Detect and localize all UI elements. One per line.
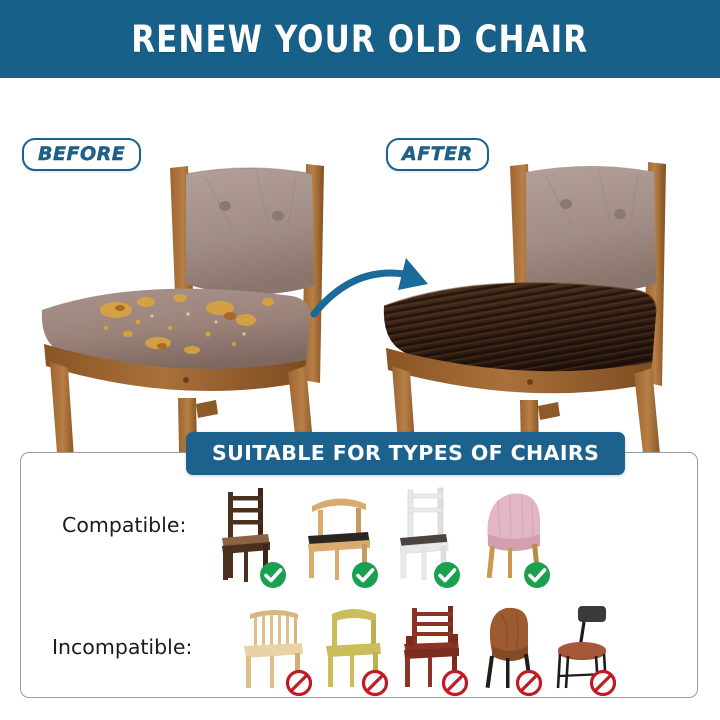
incompatible-label: Incompatible:	[52, 635, 192, 659]
curved-arrow-right-icon	[310, 256, 450, 322]
chair-black-metal-stool	[550, 600, 616, 692]
red-prohibition-icon	[440, 668, 470, 698]
header-banner: RENEW YOUR OLD CHAIR	[0, 0, 720, 78]
chair-dark-wood-ladder-back	[214, 484, 286, 584]
red-prohibition-icon	[514, 668, 544, 698]
compatible-chair-row	[214, 484, 550, 584]
chair-brown-leather-bucket	[476, 600, 542, 692]
transformation-arrow	[310, 256, 450, 322]
suitable-banner-label: SUITABLE FOR TYPES OF CHAIRS	[212, 441, 599, 465]
chair-light-wood-spindle-back	[240, 600, 312, 692]
red-prohibition-icon	[360, 668, 390, 698]
before-badge: BEFORE	[22, 138, 141, 171]
red-prohibition-icon	[588, 668, 618, 698]
chair-olive-plastic	[320, 600, 388, 692]
chair-pink-velvet-armchair	[476, 484, 550, 584]
after-badge: AFTER	[386, 138, 489, 171]
green-check-icon	[432, 560, 462, 590]
chair-light-wood-black-seat	[302, 484, 378, 584]
chair-white-dark-seat	[394, 484, 460, 584]
green-check-icon	[258, 560, 288, 590]
page-title: RENEW YOUR OLD CHAIR	[131, 18, 588, 61]
before-badge-label: BEFORE	[38, 143, 125, 165]
after-badge-label: AFTER	[402, 143, 473, 165]
before-after-hero	[0, 78, 720, 430]
compatible-label: Compatible:	[62, 513, 186, 537]
suitable-banner: SUITABLE FOR TYPES OF CHAIRS	[186, 432, 625, 475]
green-check-icon	[350, 560, 380, 590]
red-prohibition-icon	[284, 668, 314, 698]
infographic-page: RENEW YOUR OLD CHAIR	[0, 0, 720, 720]
incompatible-chair-row	[240, 600, 616, 692]
chair-dark-red-wood-armchair	[396, 600, 468, 692]
green-check-icon	[522, 560, 552, 590]
